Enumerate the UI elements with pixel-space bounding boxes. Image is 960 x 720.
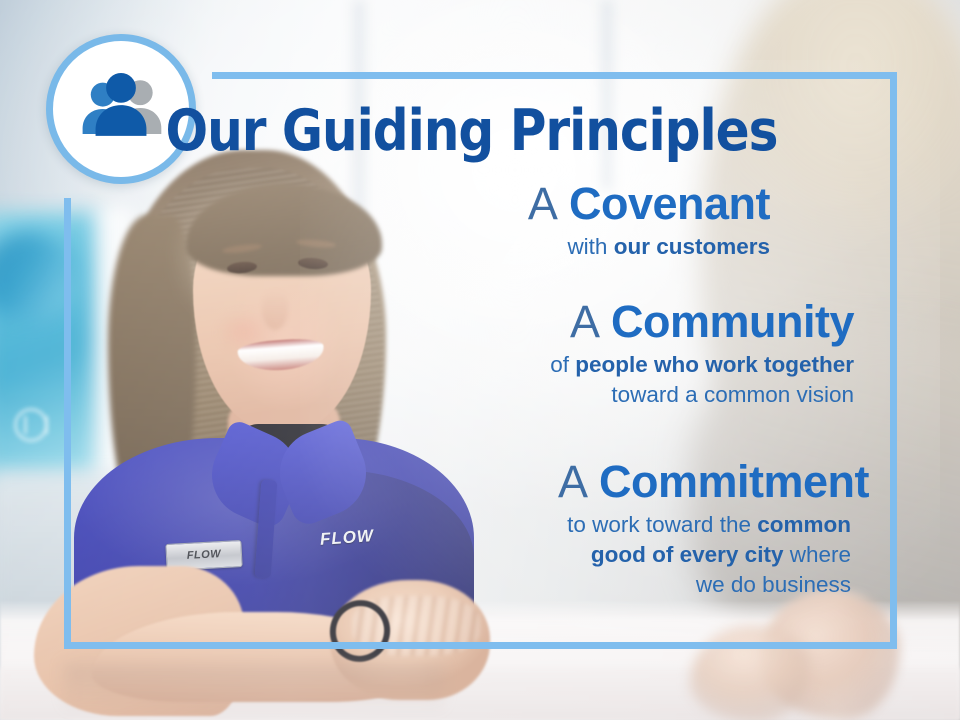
subtext-emphasis: good of every city — [591, 542, 784, 567]
subtext-emphasis: people who work together — [575, 352, 854, 377]
subtext-plain: to work toward the — [567, 512, 757, 537]
principle-subtext-line: good of every city where — [64, 540, 851, 570]
principle-community: A Community of people who work togethert… — [64, 298, 869, 410]
principle-subtext-line: of people who work together — [64, 350, 854, 380]
principle-article: A — [570, 296, 611, 347]
principle-subtext: with our customers — [64, 232, 869, 262]
subtext-plain: we do business — [696, 572, 851, 597]
principle-heading: A Commitment — [64, 458, 869, 506]
principle-heading: A Covenant — [64, 180, 869, 228]
page-title: Our Guiding Principles — [113, 102, 830, 162]
principle-subtext: to work toward the commongood of every c… — [64, 510, 869, 600]
subtext-plain: where — [783, 542, 851, 567]
principle-keyword: Covenant — [569, 178, 770, 229]
subtext-emphasis: our customers — [614, 234, 770, 259]
subtext-plain: of — [550, 352, 575, 377]
arm-shadow — [64, 664, 444, 712]
principle-article: A — [558, 456, 599, 507]
principle-subtext: of people who work togethertoward a comm… — [64, 350, 869, 410]
principle-keyword: Commitment — [599, 456, 869, 507]
content-layer: Our Guiding Principles A Covenant with o… — [64, 72, 897, 649]
principle-commitment: A Commitment to work toward the commongo… — [64, 458, 869, 600]
subtext-plain: toward a common vision — [611, 382, 854, 407]
principle-article: A — [528, 178, 569, 229]
guiding-principles-banner: FLOW FLOW — [0, 0, 960, 720]
principle-subtext-line: we do business — [64, 570, 851, 600]
principle-keyword: Community — [611, 296, 854, 347]
principle-subtext-line: toward a common vision — [64, 380, 854, 410]
principle-covenant: A Covenant with our customers — [64, 180, 869, 262]
principle-subtext-line: with our customers — [64, 232, 770, 262]
principle-subtext-line: to work toward the common — [64, 510, 851, 540]
principle-heading: A Community — [64, 298, 869, 346]
subtext-emphasis: common — [757, 512, 851, 537]
subtext-plain: with — [567, 234, 613, 259]
